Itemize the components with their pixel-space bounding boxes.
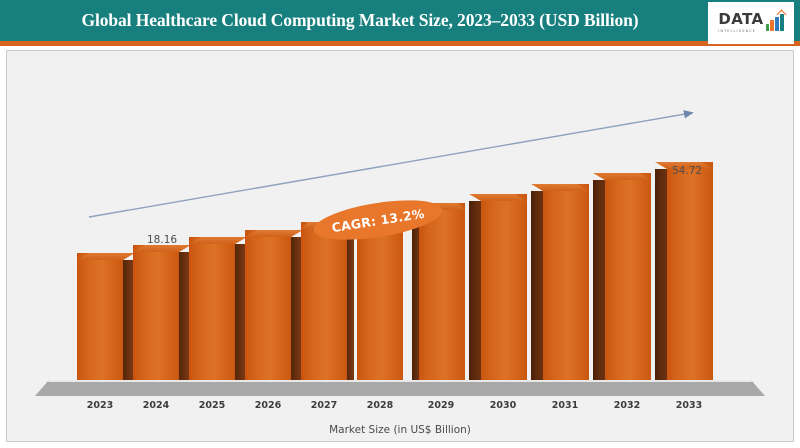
bar-side bbox=[347, 228, 354, 380]
bar-side bbox=[655, 169, 667, 380]
tick-label-2024: 2024 bbox=[126, 400, 186, 411]
header-accent-rule bbox=[0, 41, 800, 46]
chart-floor bbox=[35, 380, 765, 396]
tick-label-2026: 2026 bbox=[238, 400, 298, 411]
chart-infographic: Global Healthcare Cloud Computing Market… bbox=[0, 0, 800, 448]
bar-front bbox=[543, 184, 589, 380]
bar-2025 bbox=[189, 237, 235, 380]
bar-front bbox=[667, 162, 713, 380]
bar-2027 bbox=[301, 222, 347, 380]
bar-front bbox=[133, 245, 179, 380]
bar-2033 bbox=[667, 162, 713, 380]
plot-area: 18.16 54.72 CAGR: 13.2% 2023 2024 2025 2… bbox=[7, 51, 793, 441]
tick-label-2030: 2030 bbox=[473, 400, 533, 411]
bar-2029 bbox=[419, 203, 465, 380]
bar-side bbox=[412, 209, 419, 380]
bar-value-2033: 54.72 bbox=[672, 165, 702, 177]
tick-label-2029: 2029 bbox=[411, 400, 471, 411]
chart-panel: 18.16 54.72 CAGR: 13.2% 2023 2024 2025 2… bbox=[6, 50, 794, 442]
bar-value-2024: 18.16 bbox=[147, 234, 177, 246]
bar-front bbox=[77, 253, 123, 380]
bar-side bbox=[469, 201, 481, 380]
bar-front bbox=[419, 203, 465, 380]
x-axis-title: Market Size (in US$ Billion) bbox=[7, 424, 793, 436]
tick-label-2031: 2031 bbox=[535, 400, 595, 411]
logo-inner: DATA INTELLIGENCE bbox=[718, 12, 783, 34]
tick-label-2032: 2032 bbox=[597, 400, 657, 411]
tick-label-2027: 2027 bbox=[294, 400, 354, 411]
page-title: Global Healthcare Cloud Computing Market… bbox=[10, 0, 710, 41]
bar-side bbox=[531, 191, 543, 380]
bar-2026 bbox=[245, 230, 291, 380]
logo-text-tagline: INTELLIGENCE bbox=[718, 28, 756, 34]
bar-front bbox=[189, 237, 235, 380]
bar-side bbox=[593, 180, 605, 380]
bar-2032 bbox=[605, 173, 651, 380]
brand-logo: DATA INTELLIGENCE bbox=[708, 2, 794, 44]
logo-wordmark: DATA INTELLIGENCE bbox=[718, 12, 763, 34]
tick-label-2028: 2028 bbox=[350, 400, 410, 411]
bar-front bbox=[245, 230, 291, 380]
logo-bars-icon bbox=[766, 14, 784, 31]
tick-label-2023: 2023 bbox=[70, 400, 130, 411]
logo-text-data: DATA bbox=[718, 12, 763, 27]
bar-2031 bbox=[543, 184, 589, 380]
tick-label-2025: 2025 bbox=[182, 400, 242, 411]
bar-2023 bbox=[77, 253, 123, 380]
bar-2030 bbox=[481, 194, 527, 380]
bar-front bbox=[481, 194, 527, 380]
bar-2024 bbox=[133, 245, 179, 380]
bar-front bbox=[605, 173, 651, 380]
bar-front bbox=[301, 222, 347, 380]
tick-label-2033: 2033 bbox=[659, 400, 719, 411]
